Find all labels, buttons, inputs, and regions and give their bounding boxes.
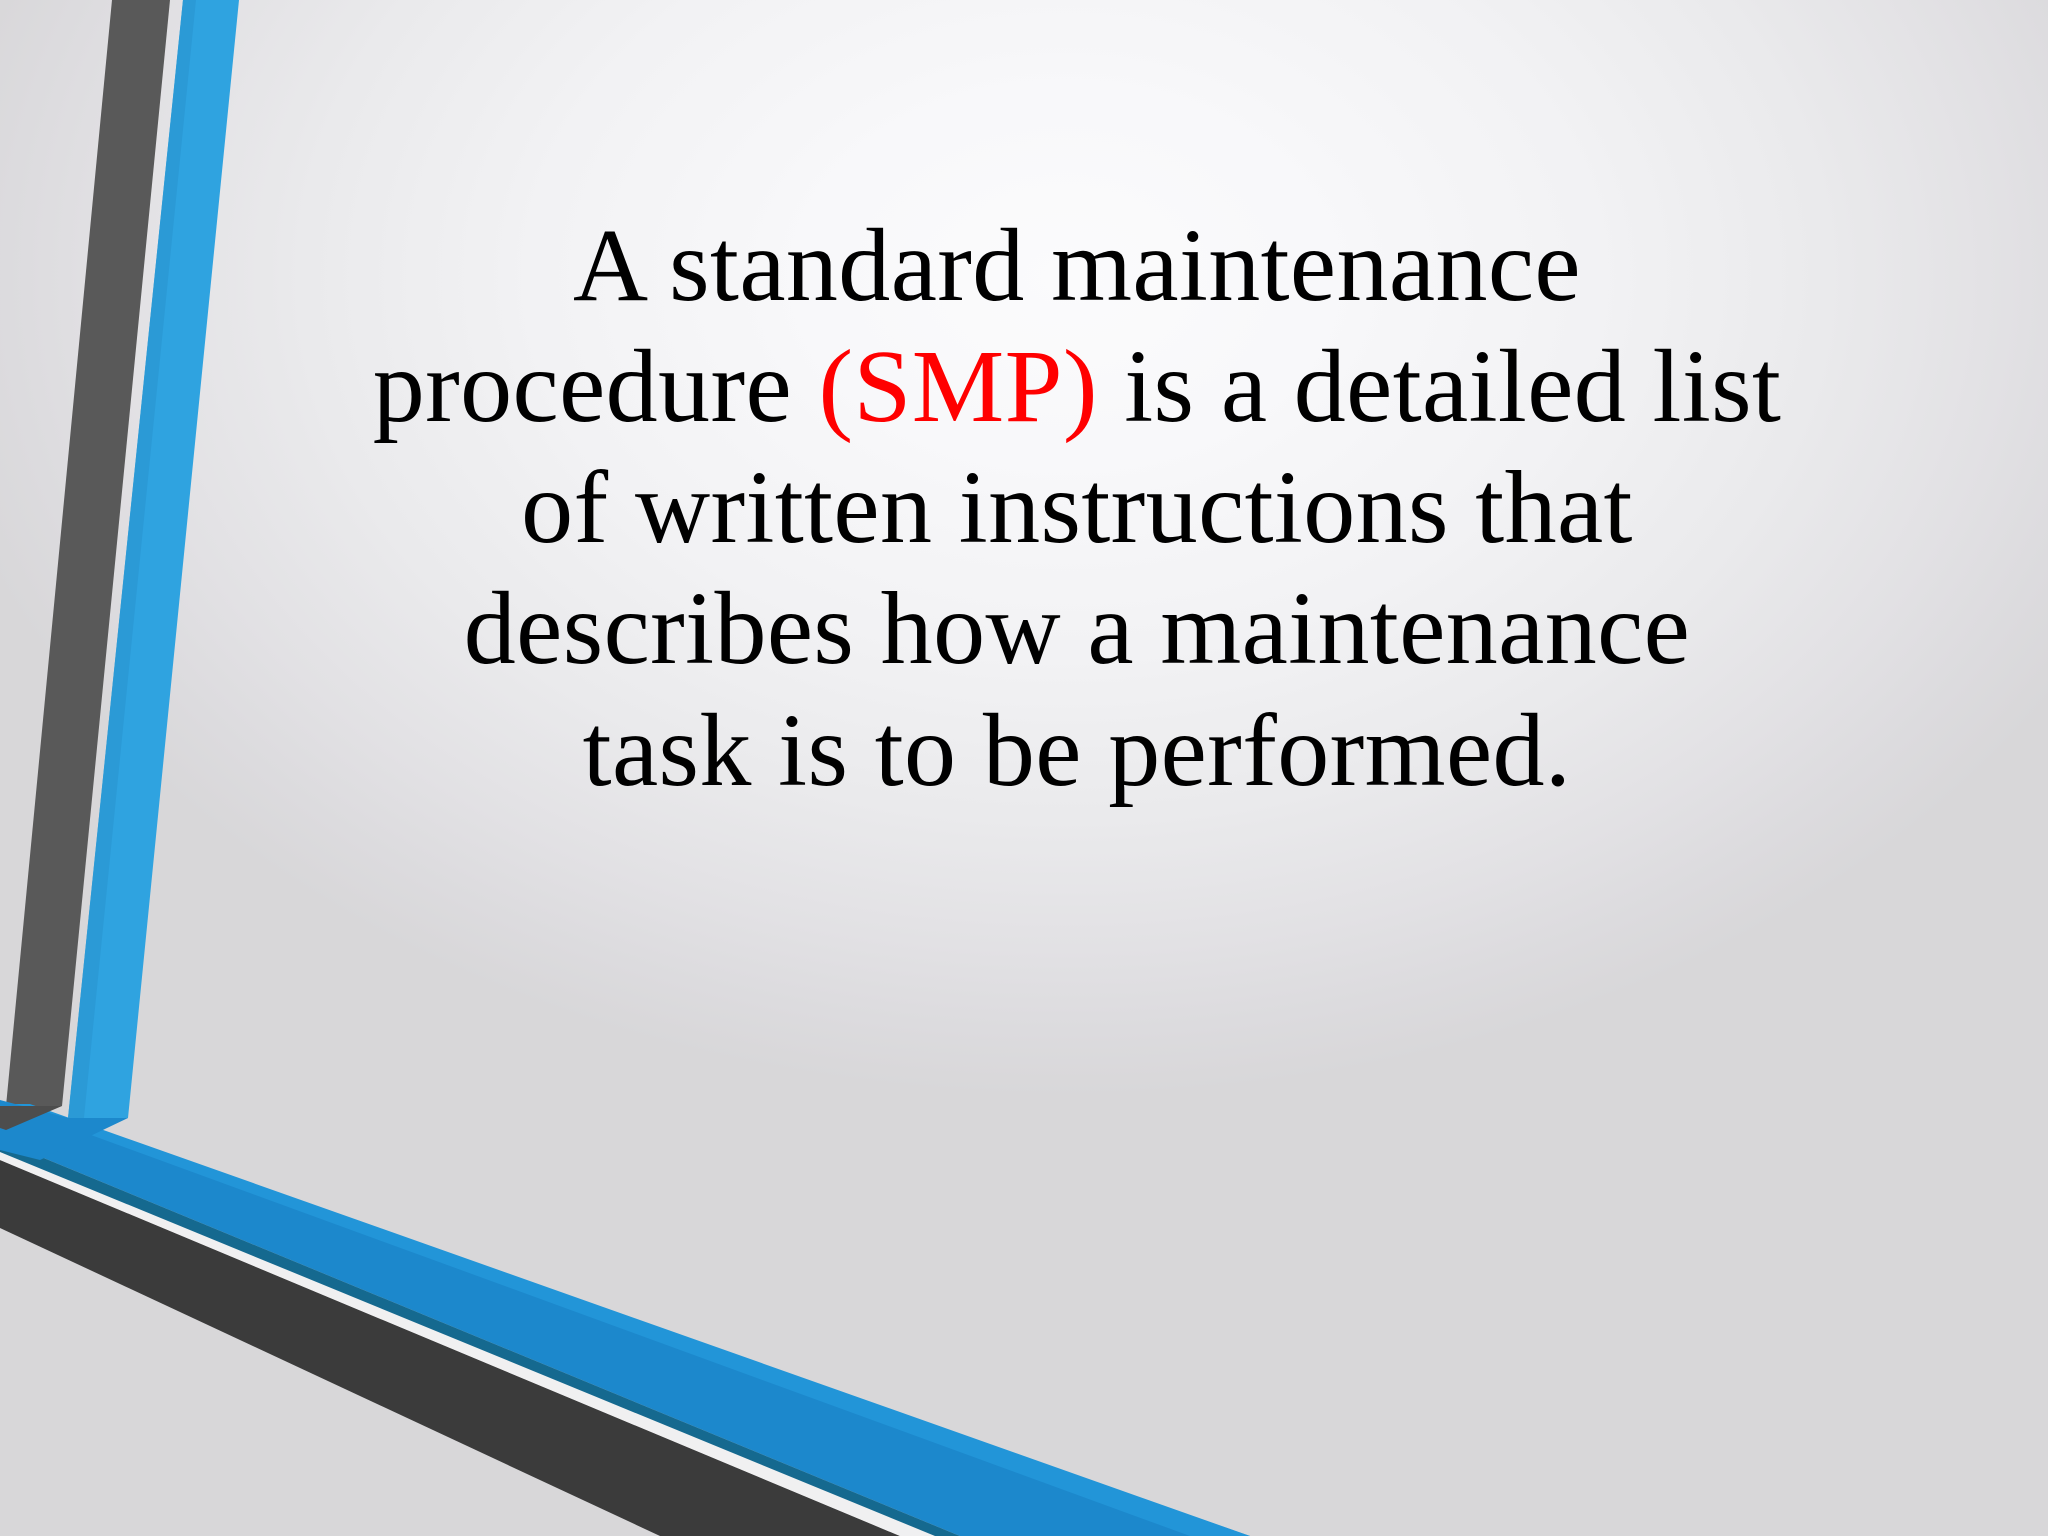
body-text-segment-2a: procedure — [373, 329, 819, 444]
body-text-segment-5: task is to be performed. — [583, 693, 1572, 808]
body-text-line-4: describes how a maintenance — [232, 568, 1922, 689]
acronym-smp: (SMP) — [818, 329, 1097, 444]
body-text-line-5: task is to be performed. — [232, 690, 1922, 811]
body-text-segment-2b: is a detailed list — [1098, 329, 1781, 444]
body-text-line-1: A standard maintenance — [232, 205, 1922, 326]
body-text-line-3: of written instructions that — [232, 447, 1922, 568]
body-text-segment-1: A standard maintenance — [573, 208, 1581, 323]
slide-canvas: A standard maintenance procedure (SMP) i… — [0, 0, 2048, 1536]
slide-body-text: A standard maintenance procedure (SMP) i… — [232, 205, 1922, 811]
body-text-line-2: procedure (SMP) is a detailed list — [232, 326, 1922, 447]
body-text-segment-4: describes how a maintenance — [464, 571, 1691, 686]
body-text-segment-3: of written instructions that — [521, 450, 1633, 565]
